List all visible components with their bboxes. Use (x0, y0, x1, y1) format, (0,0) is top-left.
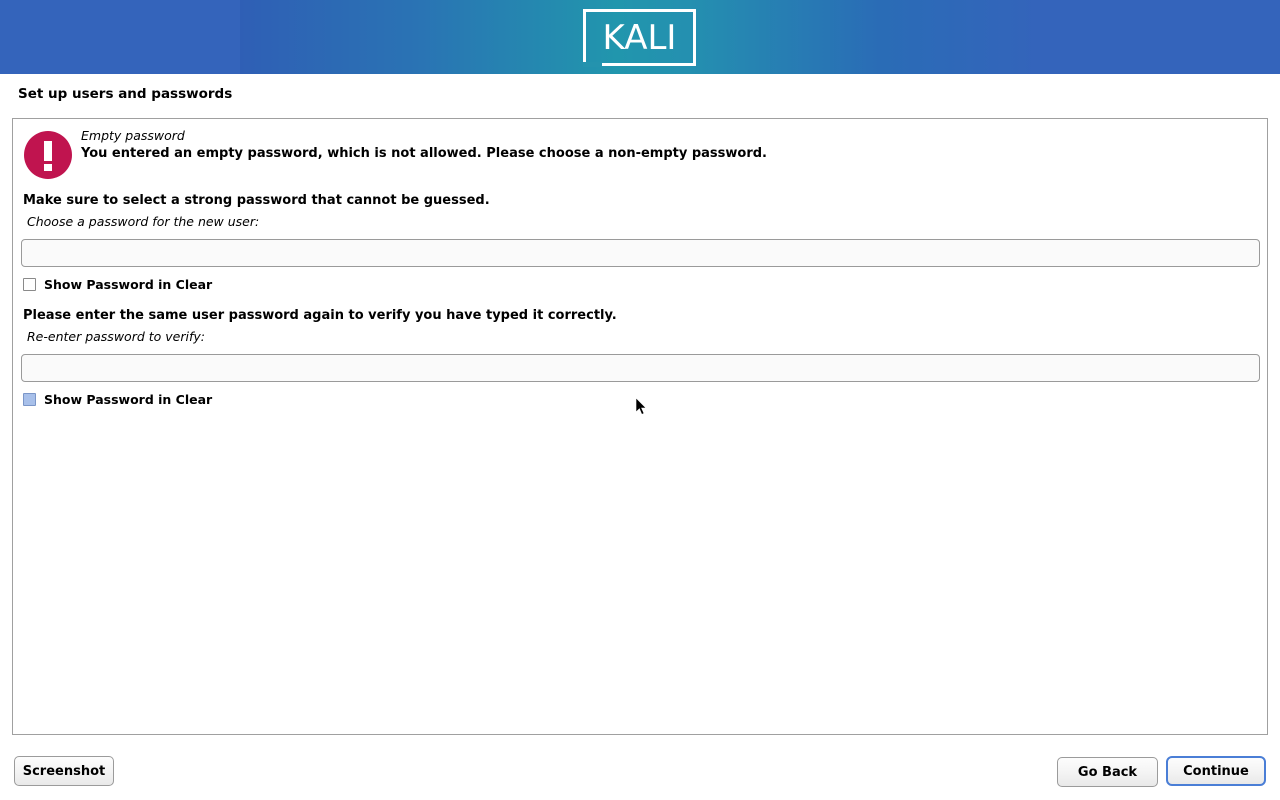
verify-field-label: Re-enter password to verify: (27, 329, 205, 344)
kali-logo-text: KALI (583, 9, 696, 66)
error-banner: Empty password You entered an empty pass… (13, 119, 1267, 189)
error-title: Empty password (81, 128, 185, 143)
error-message: You entered an empty password, which is … (81, 146, 767, 161)
verify-section-heading: Please enter the same user password agai… (23, 308, 617, 323)
installer-content-frame: Empty password You entered an empty pass… (12, 118, 1268, 735)
screenshot-button[interactable]: Screenshot (14, 756, 114, 786)
show-password-checkbox-2[interactable] (23, 393, 36, 406)
go-back-button[interactable]: Go Back (1057, 757, 1158, 787)
kali-banner: KALI (0, 0, 1280, 74)
page-title: Set up users and passwords (18, 86, 232, 102)
verify-password-input[interactable] (21, 354, 1260, 382)
show-password-label-1: Show Password in Clear (44, 277, 212, 292)
exclamation-stem (44, 141, 52, 161)
kali-logo: KALI (583, 9, 696, 66)
show-password-checkbox-row-1[interactable]: Show Password in Clear (23, 277, 212, 292)
continue-button[interactable]: Continue (1166, 756, 1266, 786)
show-password-checkbox-1[interactable] (23, 278, 36, 291)
password-input[interactable] (21, 239, 1260, 267)
show-password-label-2: Show Password in Clear (44, 392, 212, 407)
show-password-checkbox-row-2[interactable]: Show Password in Clear (23, 392, 212, 407)
password-field-label: Choose a password for the new user: (27, 214, 259, 229)
error-exclamation-icon (24, 131, 72, 179)
password-section-heading: Make sure to select a strong password th… (23, 193, 490, 208)
exclamation-dot (44, 164, 52, 171)
